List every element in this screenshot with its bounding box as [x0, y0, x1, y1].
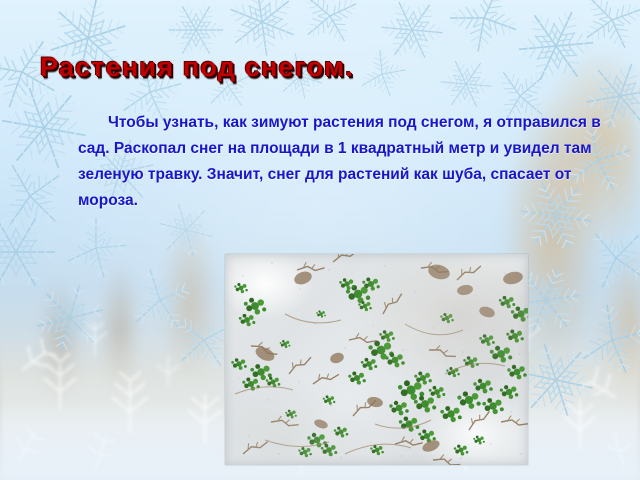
slide-body-text: Чтобы узнать, как зимуют растения под сн… [78, 110, 606, 214]
photo-border [225, 254, 528, 465]
snow-with-green-grass-photo [225, 254, 528, 465]
presentation-slide: Растения под снегом. Чтобы узнать, как з… [0, 0, 640, 480]
slide-title: Растения под снегом. [40, 52, 354, 83]
